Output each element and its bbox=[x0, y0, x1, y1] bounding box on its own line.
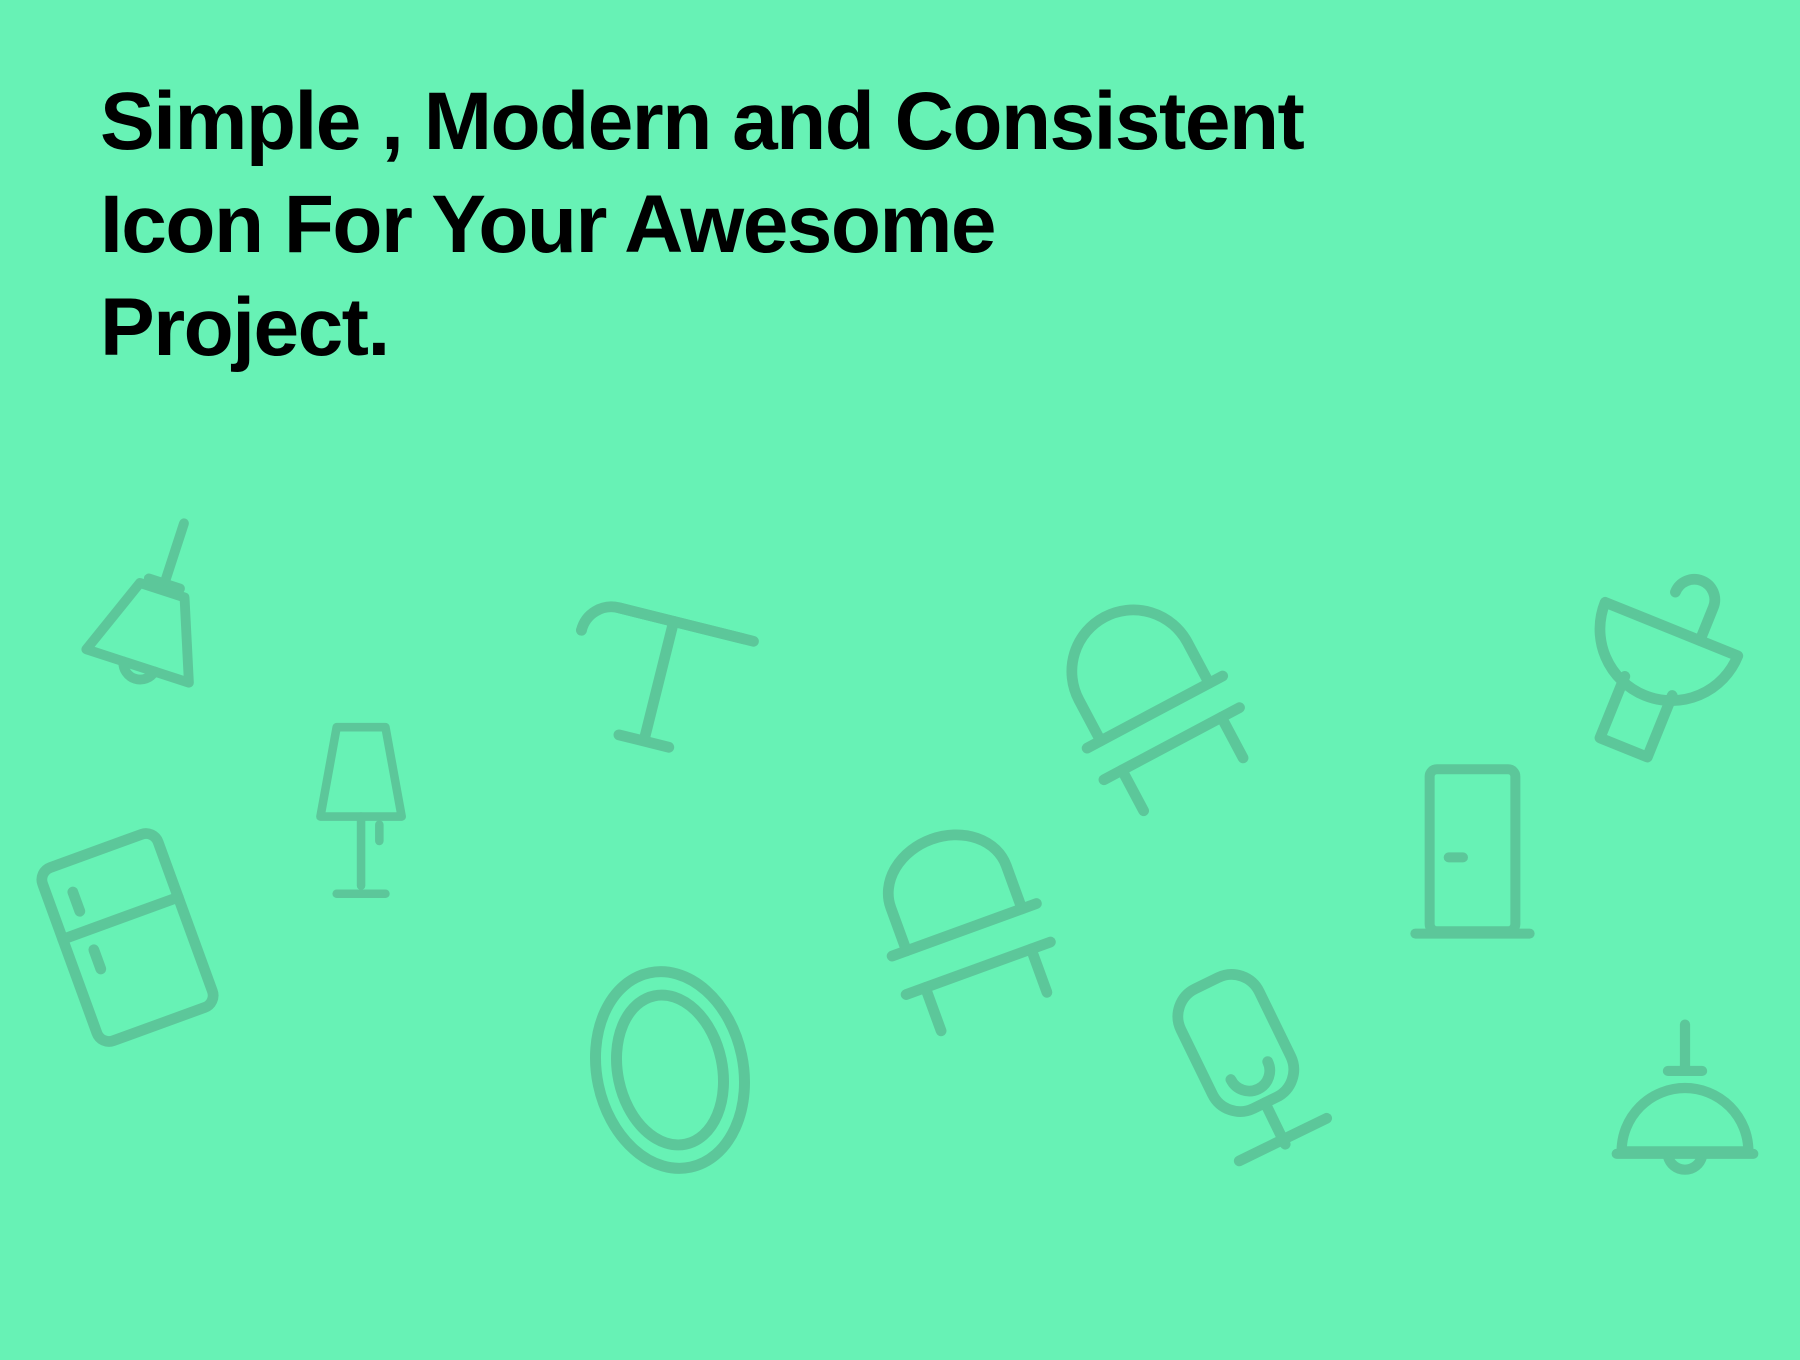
chair-tilted-left-icon bbox=[1050, 600, 1255, 815]
hero-banner: Simple , Modern and Consistent Icon For … bbox=[0, 0, 1800, 1360]
floor-lamp-icon bbox=[545, 585, 785, 770]
headline-line-2: Icon For Your Awesome bbox=[100, 173, 1420, 276]
door-icon bbox=[1400, 755, 1545, 955]
bedside-lamp-icon bbox=[1155, 955, 1330, 1170]
washbasin-sink-icon bbox=[1560, 540, 1760, 775]
page-title: Simple , Modern and Consistent Icon For … bbox=[100, 70, 1420, 379]
headline-line-1: Simple , Modern and Consistent bbox=[100, 70, 1420, 173]
armchair-icon bbox=[855, 810, 1070, 1040]
hanging-pendant-lamp-icon bbox=[60, 500, 250, 725]
refrigerator-icon bbox=[35, 830, 220, 1045]
dome-ceiling-lamp-icon bbox=[1600, 1010, 1770, 1205]
table-lamp-icon bbox=[292, 705, 422, 920]
headline-line-3: Project. bbox=[100, 276, 1420, 379]
oval-mirror-icon bbox=[580, 955, 760, 1185]
